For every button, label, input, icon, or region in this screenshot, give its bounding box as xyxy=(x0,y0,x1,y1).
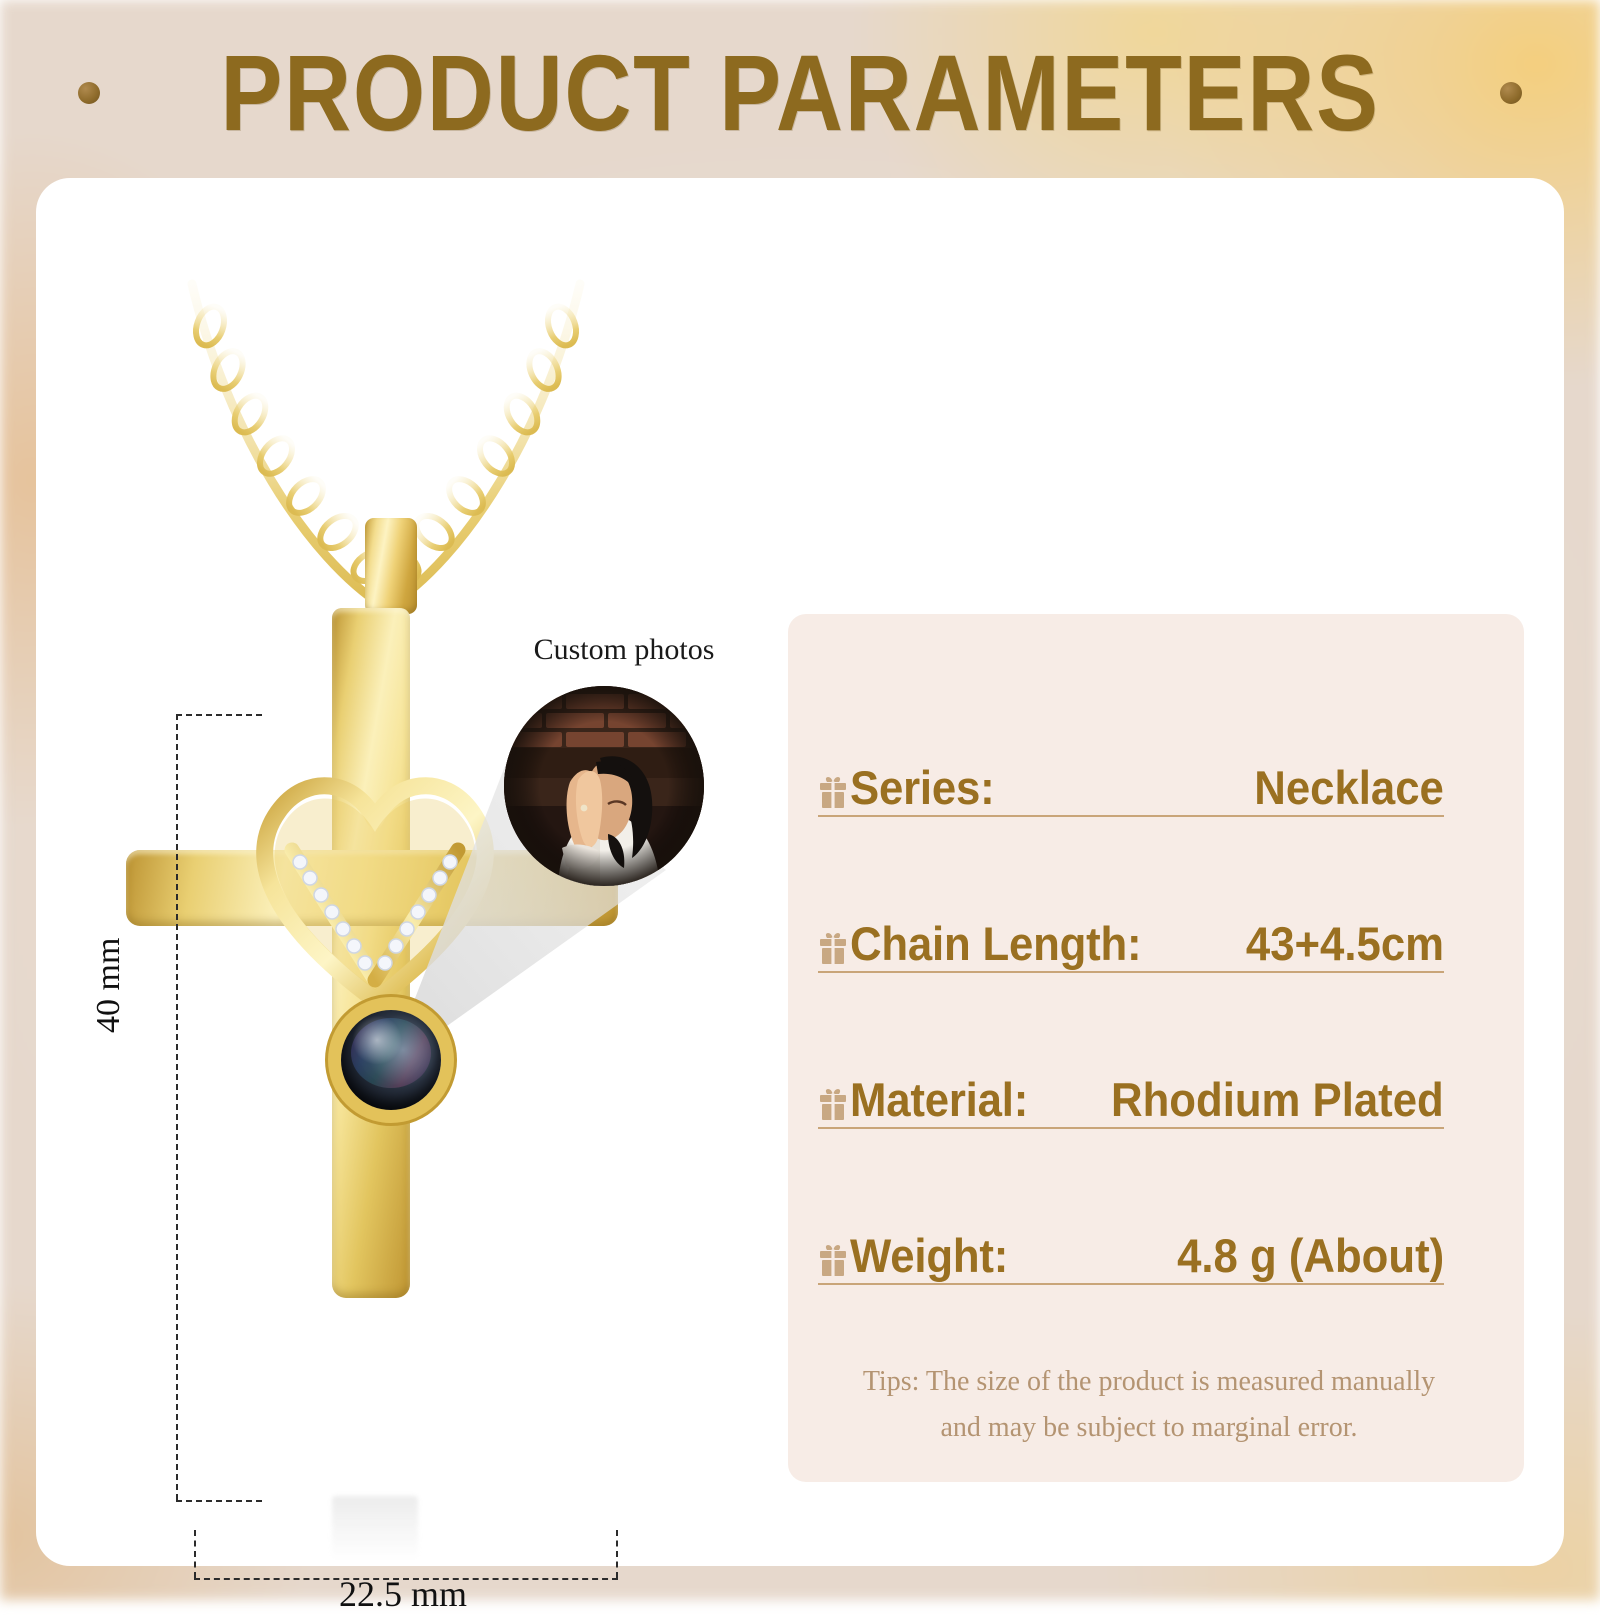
spec-row-chain-length: Chain Length: 43+4.5cm xyxy=(818,895,1444,973)
custom-photos-label: Custom photos xyxy=(504,633,744,667)
spec-row-material: Material: Rhodium Plated xyxy=(818,1051,1444,1129)
spec-label-group: Series: xyxy=(818,762,1005,815)
spec-row-weight: Weight: 4.8 g (About) xyxy=(818,1207,1444,1285)
gift-box-icon xyxy=(818,775,848,809)
title-dot-right-icon xyxy=(1500,82,1522,104)
tips-note: Tips: The size of the product is measure… xyxy=(844,1359,1454,1451)
spec-label: Weight: xyxy=(850,1230,1008,1283)
product-image-area: Custom photos xyxy=(36,178,736,1566)
spec-label: Series: xyxy=(850,762,994,815)
spec-row-series: Series: Necklace xyxy=(818,739,1444,817)
specifications-list: Series: Necklace Chain Len xyxy=(818,739,1444,1285)
width-dimension-label: 22.5 mm xyxy=(188,1573,618,1615)
height-measure-line xyxy=(176,714,178,1500)
title-dot-left-icon xyxy=(78,82,100,104)
spec-label-group: Weight: xyxy=(818,1230,1020,1283)
height-dimension-label: 40 mm xyxy=(90,938,128,1033)
width-measure-right-tick xyxy=(616,1530,618,1578)
page-title: PRODUCT PARAMETERS xyxy=(220,39,1379,147)
gift-box-icon xyxy=(818,1087,848,1121)
pendant-bail xyxy=(365,518,417,614)
spec-value: Rhodium Plated xyxy=(1111,1074,1444,1127)
photo-projection-stone xyxy=(341,1010,441,1110)
spec-value: Necklace xyxy=(1254,762,1444,815)
gift-box-icon xyxy=(818,1243,848,1277)
spec-value: 43+4.5cm xyxy=(1246,918,1444,971)
spec-label-group: Chain Length: xyxy=(818,918,1163,971)
height-measure-top-tick xyxy=(176,714,262,716)
gift-box-icon xyxy=(818,931,848,965)
spec-label-group: Material: xyxy=(818,1074,1041,1127)
specifications-panel: Series: Necklace Chain Len xyxy=(788,614,1524,1482)
pendant-reflection xyxy=(332,1496,418,1560)
spec-value: 4.8 g (About) xyxy=(1177,1230,1444,1283)
content-card: Custom photos xyxy=(36,178,1564,1566)
page-header: PRODUCT PARAMETERS xyxy=(0,34,1600,152)
custom-photo-thumbnail xyxy=(504,686,704,886)
spec-label: Chain Length: xyxy=(850,918,1141,971)
width-measure-left-tick xyxy=(194,1530,196,1578)
spec-label: Material: xyxy=(850,1074,1028,1127)
height-measure-bottom-tick xyxy=(176,1500,262,1502)
